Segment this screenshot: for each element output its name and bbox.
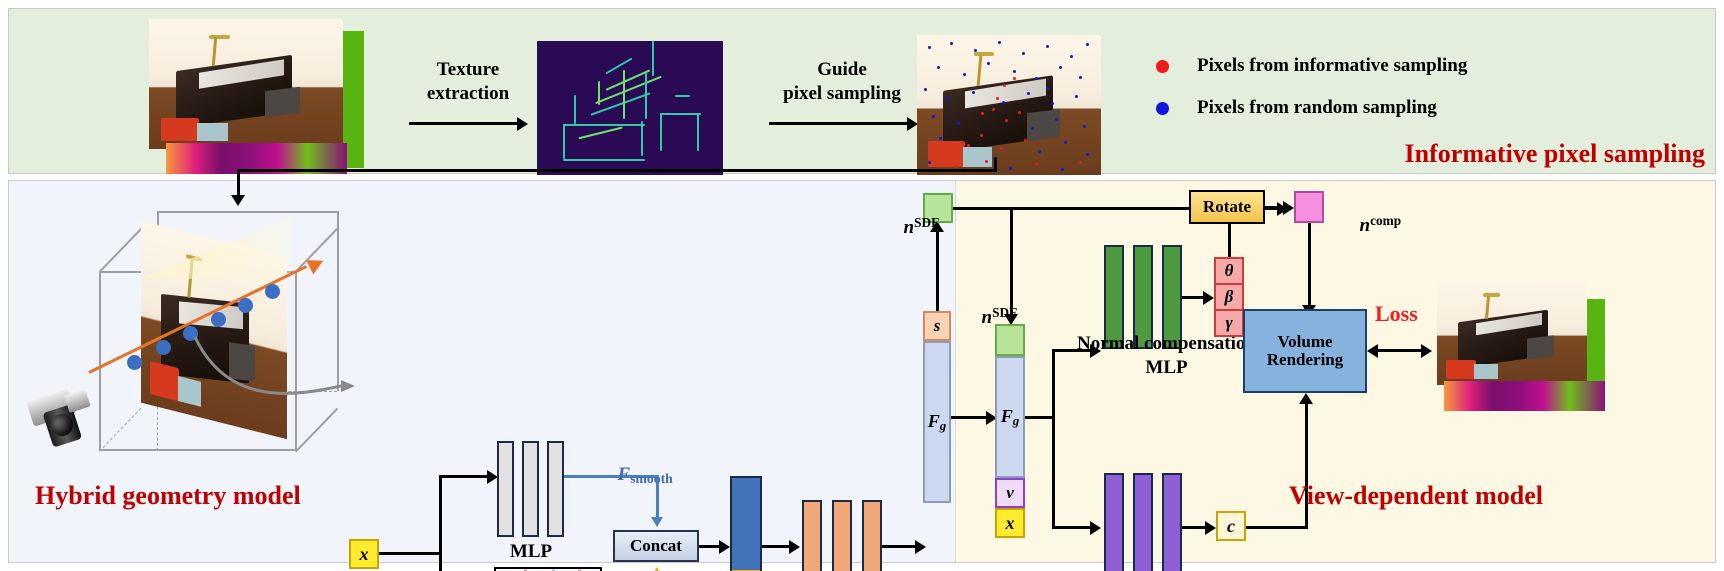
token-x-view-label: x [1006,514,1015,533]
legend-dot-informative [1156,60,1169,73]
concat-block: Concat [613,530,699,562]
normal-mlp-to-angles-head [1203,291,1214,305]
geometry-decoder-layer [862,500,882,571]
ncomp-to-volume-line [1308,223,1311,307]
nsdf-left-label: nSDF [875,195,939,260]
fg-label: F [928,411,940,431]
fg-left-to-right-line [951,416,991,419]
figure-canvas: Texture extraction [0,0,1724,571]
voxel-grid [494,567,602,571]
c-to-volume-head [1299,393,1313,404]
token-v: v [995,478,1025,508]
arrow-label-guide-line1: Guide [769,59,915,80]
fg-right-branch-h [1025,416,1055,419]
angle-beta-label: β [1225,288,1234,306]
legend-label-random: Pixels from random sampling [1197,97,1437,118]
color-mlp-layer [1133,473,1153,571]
connector-top-to-nsdf [994,157,997,171]
f-grid-arrow-head [651,567,663,571]
input-rgb-image [149,19,364,174]
mlp-layer [497,441,514,537]
decoder-to-fg-head [915,540,926,554]
x-split-vertical [439,475,442,571]
fg-to-color-mlp-head [1090,521,1101,535]
pixel-dot-overlay [917,35,1101,175]
ncomp-box [1294,191,1324,223]
arrow-label-texture-extraction-line1: Texture [409,59,527,80]
loss-line [1377,349,1423,352]
token-c: c [1216,511,1246,541]
rotate-to-ncomp-head [1283,201,1294,215]
angles-to-rotate-line [1228,223,1231,257]
feature-to-decoder-line [762,545,792,548]
x-out-line [379,552,441,555]
ray-sample-point [156,340,171,355]
token-s-label: s [934,317,941,335]
panel-pipeline: Hybrid geometry model x MLP Fsmooth [8,180,1716,563]
legend-label-informative: Pixels from informative sampling [1197,55,1467,76]
f-smooth-label: Fsmooth [589,443,673,508]
ray-sample-point [127,355,142,370]
concat-to-feature-head [719,540,730,554]
arrow-label-texture-extraction-line2: extraction [399,83,537,104]
concat-feature-bar [730,476,762,571]
volume-rendering-line1: Volume [1277,333,1332,351]
panel-title-hybrid-geometry-model: Hybrid geometry model [35,481,301,511]
arrow-texture-extraction-head [517,117,528,131]
connector-top-to-cube-head [231,195,245,206]
concat-label: Concat [630,537,682,555]
ray-sample-point [211,312,226,327]
panel-informative-pixel-sampling: Texture extraction [8,8,1716,174]
feature-to-decoder-head [789,540,800,554]
feature-fg-right: Fg [995,356,1025,478]
loss-label: Loss [1375,301,1418,327]
token-x-label: x [360,545,369,564]
mlp-label: MLP [497,541,565,562]
angle-gamma-label: γ [1225,314,1232,332]
geometry-decoder-layer [802,500,822,571]
texture-edge-map [537,41,723,175]
arrow-guide-pixel-sampling [769,122,909,125]
loss-head-right [1421,344,1432,358]
arrow-texture-extraction [409,122,519,125]
ground-truth-render [1437,281,1605,411]
rotate-label: Rotate [1203,198,1251,216]
loss-head-left [1367,344,1378,358]
volume-rendering-block: Volume Rendering [1243,309,1367,393]
rotate-block: Rotate [1189,190,1265,224]
color-mlp-layer [1104,473,1124,571]
f-smooth-arrow-head [651,517,663,527]
x-to-mlp-line [439,475,491,478]
fg-right-label: F [1001,406,1013,426]
sampled-pixels-image [917,35,1101,175]
arrow-label-guide-line2: pixel sampling [753,83,931,104]
token-v-label: v [1006,484,1014,502]
connector-top-to-cube-v [237,169,240,197]
mlp-layer [547,441,564,537]
color-mlp-layer [1162,473,1182,571]
angle-theta-label: θ [1225,262,1234,280]
feature-fg-left: Fg [923,341,951,503]
token-s: s [923,311,951,341]
token-x-view: x [995,508,1025,538]
angle-beta: β [1214,283,1244,311]
token-x-input: x [349,539,379,569]
volume-rendering-line2: Rendering [1267,351,1344,369]
ray-sample-point [238,298,253,313]
c-to-volume-line-h [1246,526,1308,529]
color-mlp-to-c-head [1205,521,1216,535]
geometry-decoder-layer [832,500,852,571]
token-c-label: c [1227,517,1235,536]
mlp-layer [522,441,539,537]
connector-top-to-cube-h [237,169,997,172]
panel-title-view-dependent-model: View-dependent model [1289,481,1543,511]
ncomp-label: ncomp [1331,193,1401,258]
angle-theta: θ [1214,257,1244,285]
angle-gamma: γ [1214,309,1244,337]
fg-to-color-mlp-line [1052,526,1094,529]
sample-to-x-curve [189,331,369,401]
ray-sample-point [265,284,280,299]
nsdf-right-label: nSDF [953,285,1017,350]
panel-title-informative-pixel-sampling: Informative pixel sampling [1405,139,1705,169]
legend-dot-random [1156,102,1169,115]
edge-map-canvas [537,41,723,175]
